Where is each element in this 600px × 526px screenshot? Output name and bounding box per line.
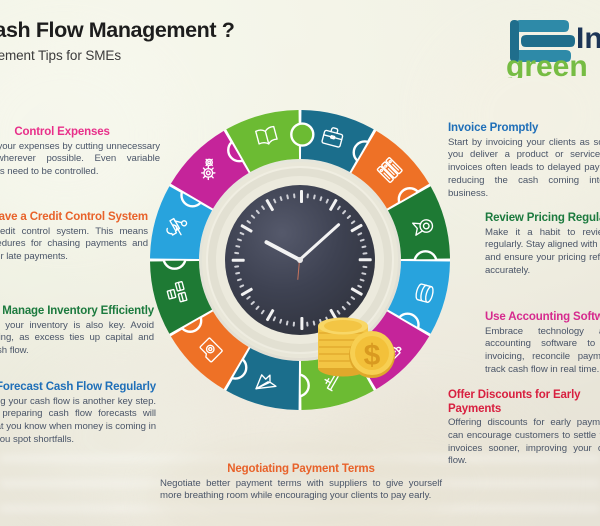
- page-subtitle: h Flow Management Tips for SMEs: [0, 48, 414, 63]
- tip-heading: Control Expenses: [0, 126, 160, 140]
- tip-body: Control your expenses by cutting unneces…: [0, 141, 160, 179]
- clock-minute-tick: [286, 320, 289, 325]
- clock-minute-tick: [360, 239, 365, 242]
- clock-minute-tick: [235, 272, 240, 275]
- tip-body: Have a credit control system. This means…: [0, 226, 148, 264]
- puzzle-knob: [291, 124, 313, 146]
- clock-minute-tick: [255, 306, 260, 311]
- clock-hour-tick: [232, 258, 245, 261]
- tip-heading: Forecast Cash Flow Regularly: [0, 381, 156, 395]
- clock-minute-tick: [350, 220, 355, 224]
- tip-manage-inventory-efficiently: Manage Inventory Efficiently Managing yo…: [0, 305, 154, 358]
- brand-logo[interactable]: green In: [504, 6, 600, 78]
- clock-minute-tick: [246, 296, 251, 300]
- tip-body: Start by invoicing your clients as soon …: [448, 137, 600, 201]
- clock-minute-tick: [239, 232, 244, 235]
- clock-minute-tick: [306, 322, 308, 327]
- tip-body: Embrace technology and use accounting so…: [485, 326, 600, 377]
- clock-minute-tick: [362, 252, 367, 254]
- tip-heading: Have a Credit Control System: [0, 211, 148, 225]
- clock-hour-tick: [240, 287, 253, 296]
- clock-minute-tick: [279, 319, 282, 324]
- puzzle-wheel: $: [139, 99, 461, 421]
- clock-minute-tick: [255, 210, 260, 215]
- tip-control-expenses: Control Expenses Control your expenses b…: [0, 126, 160, 179]
- clock-hour-tick: [240, 224, 253, 233]
- gold-coin-stack-icon: $: [310, 302, 398, 382]
- clock-minute-tick: [261, 205, 265, 210]
- clock-minute-tick: [286, 194, 289, 199]
- clock-minute-tick: [293, 193, 295, 198]
- clock-minute-tick: [319, 196, 322, 201]
- tip-body: Managing your inventory is also key. Avo…: [0, 320, 154, 358]
- tip-body: Offering discounts for early payments ca…: [448, 417, 600, 468]
- tip-forecast-cash-flow-regularly: Forecast Cash Flow Regularly Forecasting…: [0, 381, 156, 447]
- tip-use-accounting-software: Use Accounting Software Embrace technolo…: [485, 311, 600, 377]
- svg-text:$: $: [364, 339, 381, 372]
- clock-minute-tick: [346, 215, 351, 220]
- tip-body: Forecasting your cash flow is another ke…: [0, 396, 156, 447]
- clock-minute-tick: [250, 215, 255, 220]
- clock-minute-tick: [239, 284, 244, 287]
- tip-body: Negotiate better payment terms with supp…: [160, 478, 442, 504]
- clock-minute-tick: [361, 272, 366, 275]
- clock-minute-tick: [342, 210, 347, 215]
- clock-minute-tick: [306, 193, 308, 198]
- clock-minute-tick: [360, 278, 365, 281]
- tip-heading: Invoice Promptly: [448, 122, 600, 136]
- clock-hour-tick: [350, 287, 363, 296]
- page-title: g with Cash Flow Management ?: [0, 18, 414, 43]
- clock-hour-tick: [300, 190, 303, 203]
- tip-heading: Negotiating Payment Terms: [160, 463, 442, 477]
- tip-heading: Offer Discounts for Early Payments: [448, 389, 600, 416]
- tip-credit-control-system: Have a Credit Control System Have a cred…: [0, 211, 148, 264]
- tip-invoice-promptly: Invoice Promptly Start by invoicing your…: [448, 122, 600, 200]
- clock-hour-hand: [264, 239, 301, 261]
- clock-minute-tick: [261, 310, 265, 315]
- clock-minute-tick: [362, 266, 367, 268]
- clock-minute-tick: [234, 252, 239, 254]
- clock-minute-tick: [234, 266, 239, 268]
- clock-minute-tick: [273, 198, 276, 203]
- tip-negotiating-payment-terms: Negotiating Payment Terms Negotiate bett…: [160, 463, 442, 503]
- clock-minute-tick: [246, 220, 251, 224]
- clock-minute-tick: [357, 232, 362, 235]
- clock-minute-tick: [235, 245, 240, 248]
- clock-minute-tick: [357, 284, 362, 287]
- clock-minute-hand: [299, 223, 341, 262]
- clock-minute-tick: [361, 245, 366, 248]
- tip-heading: Review Pricing Regularly: [485, 212, 600, 226]
- clock-minute-tick: [325, 198, 328, 203]
- clock-minute-tick: [350, 296, 355, 300]
- clock-hour-tick: [300, 317, 303, 330]
- clock-hour-tick: [359, 258, 372, 261]
- clock-minute-tick: [273, 316, 276, 321]
- clock-minute-tick: [337, 205, 341, 210]
- logo-text-in: In: [576, 22, 600, 55]
- clock-minute-tick: [237, 278, 242, 281]
- clock-minute-tick: [237, 239, 242, 242]
- clock-minute-tick: [313, 194, 316, 199]
- tip-heading: Manage Inventory Efficiently: [0, 305, 154, 319]
- clock-minute-tick: [250, 301, 255, 306]
- tip-review-pricing-regularly: Review Pricing Regularly Make it a habit…: [485, 212, 600, 278]
- clock-minute-tick: [279, 196, 282, 201]
- infographic-canvas: g with Cash Flow Management ? h Flow Man…: [0, 0, 600, 526]
- clock-center-pin: [297, 257, 303, 263]
- tip-offer-discounts-early-payments: Offer Discounts for Early Payments Offer…: [448, 389, 600, 468]
- tip-body: Make it a habit to review pricing regula…: [485, 227, 600, 278]
- clock-minute-tick: [293, 322, 295, 327]
- tip-heading: Use Accounting Software: [485, 311, 600, 325]
